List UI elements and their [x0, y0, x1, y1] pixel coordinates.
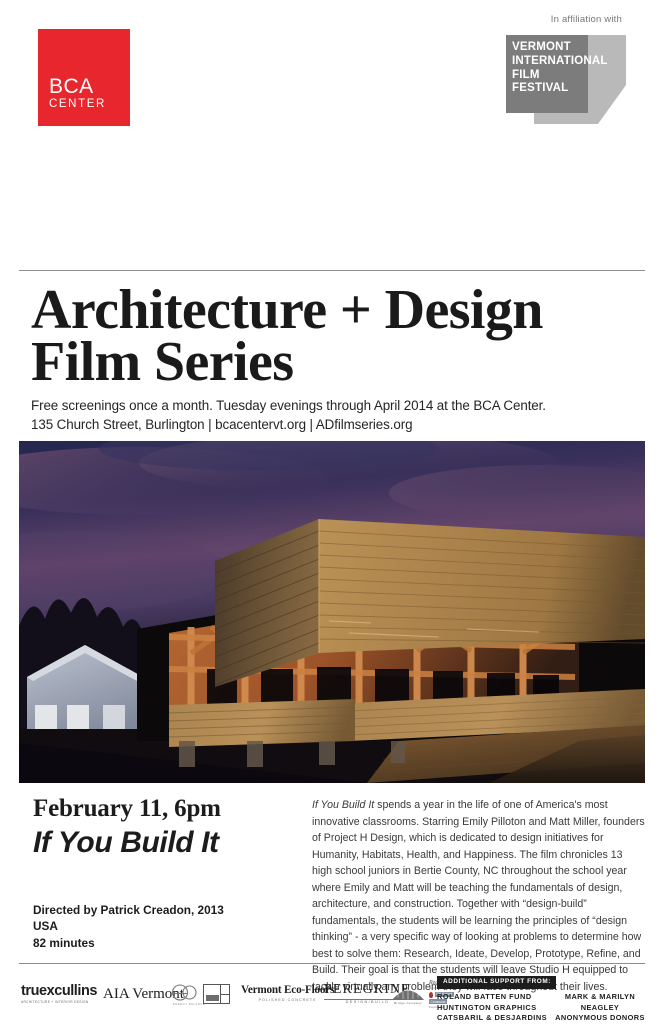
film-description: If You Build It spends a year in the lif…	[312, 797, 645, 995]
viff-affiliation-block: In affiliation with VERMONT INTERNATIONA…	[488, 14, 636, 126]
truexcullins-name: truexcullins	[21, 984, 97, 999]
footer-divider	[19, 963, 645, 964]
sponsor-vermont-eco-floors-logo: Vermont Eco-Floors POLISHED CONCRETE	[241, 970, 334, 1018]
bca-center-logo: BCA CENTER	[38, 29, 130, 126]
header-divider	[19, 270, 645, 271]
truexcullins-tagline: ARCHITECTURE + INTERIOR DESIGN	[21, 1001, 97, 1004]
eo-glyph-icon	[171, 983, 197, 1005]
bca-logo-line1: BCA	[49, 76, 106, 97]
screening-date: February 11, 6pm	[33, 796, 295, 822]
film-description-lead: If You Build It	[312, 799, 374, 811]
sponsor-truexcullins-logo: truexcullins ARCHITECTURE + INTERIOR DES…	[21, 970, 97, 1018]
film-info-block: February 11, 6pm If You Build It Directe…	[33, 796, 295, 951]
poster-root: BCA CENTER In affiliation with VERMONT I…	[0, 0, 663, 1024]
grid-block-shape	[206, 995, 219, 1001]
pavilion-illustration	[19, 441, 645, 783]
viff-line1: VERMONT	[512, 41, 608, 55]
bca-logo-text: BCA CENTER	[49, 76, 106, 111]
additional-support-column-b: MARK & MARILYN NEAGLEY ANONYMOUS DONORS	[555, 992, 645, 1024]
additional-support-column-a: ROLAND BATTEN FUND HUNTINGTON GRAPHICS C…	[437, 992, 555, 1024]
sponsor-grid-logo	[203, 970, 230, 1018]
eco-floors-name: Vermont Eco-Floors	[241, 985, 334, 996]
title-block: Architecture + Design Film Series	[31, 284, 651, 388]
eco-floors-tagline: POLISHED CONCRETE	[241, 999, 334, 1003]
eo-mark-icon: ENERGY BALANCE	[171, 983, 197, 1005]
viff-logo-text: VERMONT INTERNATIONAL FILM FESTIVAL	[512, 41, 608, 96]
bridge-icon	[391, 983, 425, 1001]
sponsor-logo-row: truexcullins ARCHITECTURE + INTERIOR DES…	[19, 970, 645, 1018]
additional-support-block: ADDITIONAL SUPPORT FROM: ROLAND BATTEN F…	[437, 970, 645, 1024]
affiliation-label: In affiliation with	[551, 14, 622, 25]
eo-tagline: ENERGY BALANCE	[173, 1003, 205, 1006]
film-title: If You Build It	[33, 826, 295, 860]
film-credits: Directed by Patrick Creadon, 2013 USA 82…	[33, 902, 295, 952]
bca-logo-line2: CENTER	[49, 99, 106, 111]
sponsor-eo-logo: ENERGY BALANCE	[171, 970, 197, 1018]
viff-line4: FESTIVAL	[512, 82, 608, 96]
additional-support-heading: ADDITIONAL SUPPORT FROM:	[437, 976, 556, 989]
grid-horizontal-line	[220, 994, 230, 995]
viff-line3: FILM	[512, 69, 608, 83]
additional-support-columns: ROLAND BATTEN FUND HUNTINGTON GRAPHICS C…	[437, 992, 645, 1024]
viff-logo: VERMONT INTERNATIONAL FILM FESTIVAL	[506, 33, 626, 126]
sponsor-footer: truexcullins ARCHITECTURE + INTERIOR DES…	[19, 970, 645, 1018]
bridge-company-tagline: Bridge Company	[394, 1002, 422, 1005]
film-still-photo	[19, 441, 645, 783]
sponsor-bridge-company-logo: Bridge Company	[391, 970, 425, 1018]
viff-line2: INTERNATIONAL	[512, 55, 608, 69]
grid-mark-icon	[203, 984, 230, 1004]
red-brick-dot-icon	[429, 992, 433, 998]
poster-header: BCA CENTER In affiliation with VERMONT I…	[0, 0, 663, 258]
series-subtitle: Free screenings once a month. Tuesday ev…	[31, 396, 651, 434]
page-title: Architecture + Design Film Series	[31, 284, 651, 388]
